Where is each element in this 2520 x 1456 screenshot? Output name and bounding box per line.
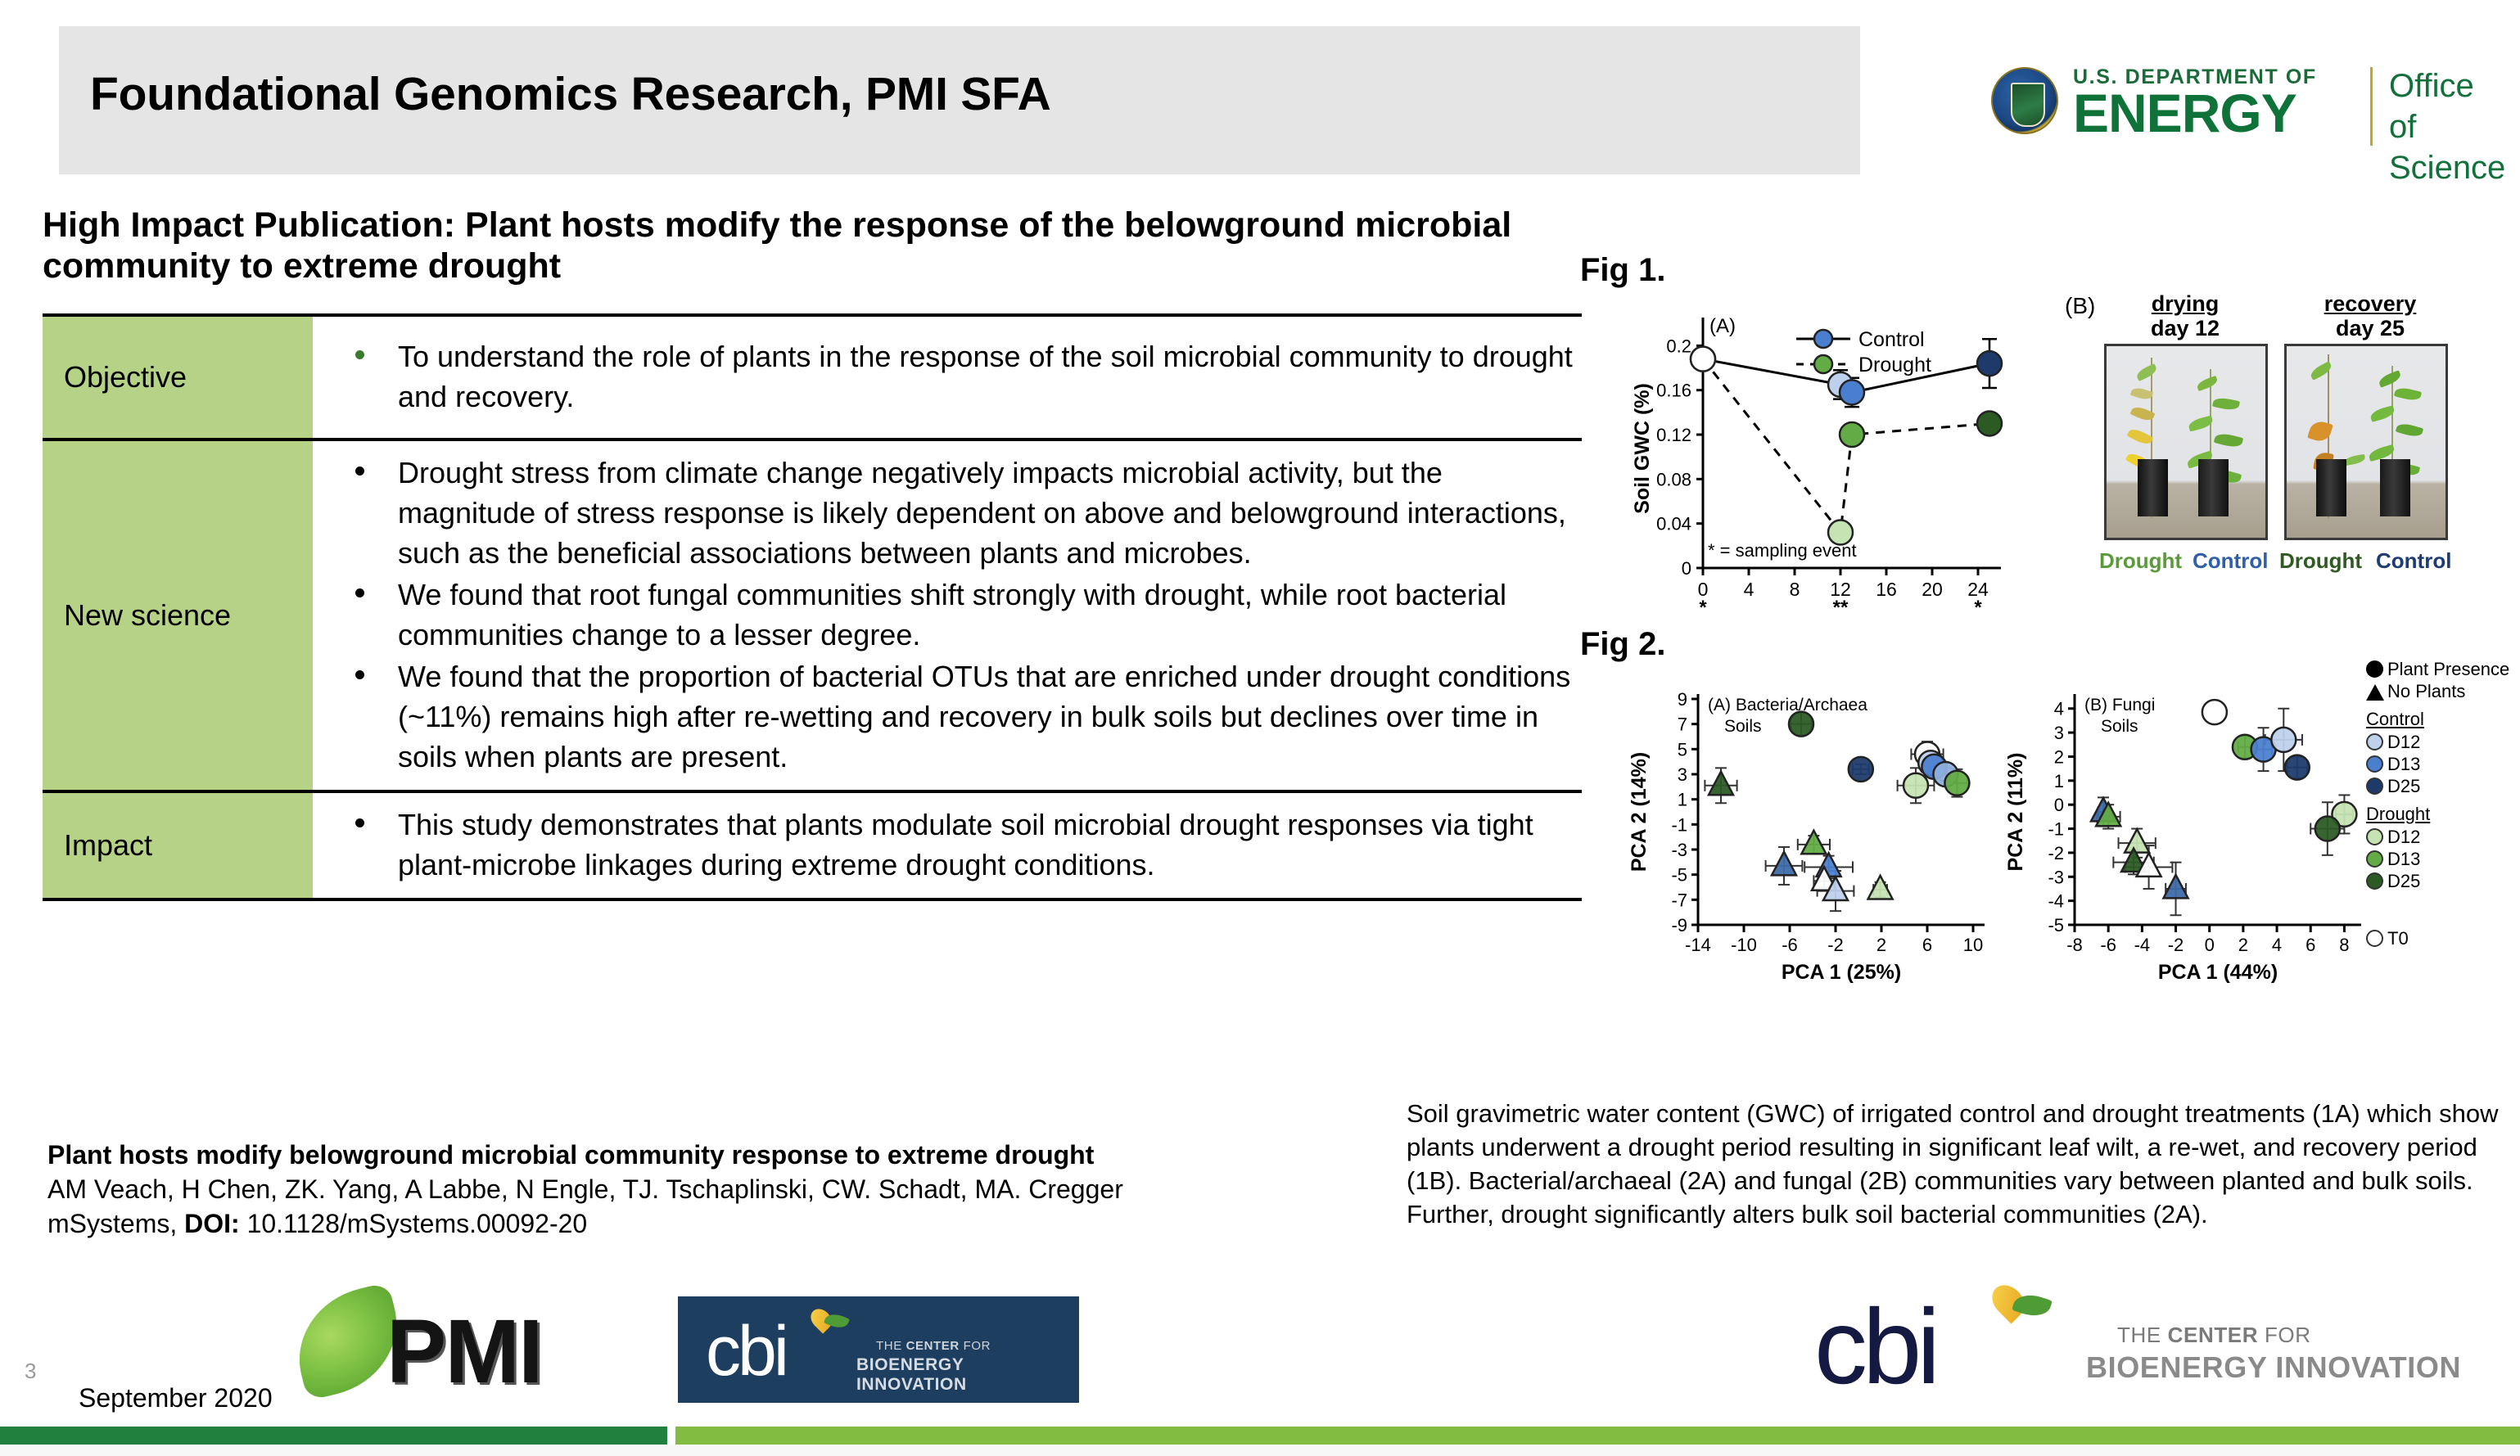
svg-text:PCA 2 (11%): PCA 2 (11%) [2004, 753, 2027, 872]
footer-bar-light [675, 1427, 2520, 1445]
fig1-panelB-photos: (B) drying day 12 recovery day 25 [2065, 293, 2474, 620]
list-item: This study demonstrates that plants modu… [341, 805, 1574, 885]
fig1-panelA-chart: 00.040.080.120.160.204812162024****Soil … [1628, 286, 2021, 630]
svg-text:0: 0 [1682, 558, 1691, 579]
photo-drying-day12 [2104, 344, 2268, 540]
svg-text:PCA 2 (14%): PCA 2 (14%) [1628, 752, 1651, 872]
pmi-wordmark: PMI [386, 1300, 542, 1404]
photo-caption-control-left: Control [2193, 548, 2268, 574]
legend-item-control-d13: D13 [2366, 754, 2518, 775]
svg-text:Drought: Drought [1858, 354, 1931, 376]
svg-text:8: 8 [1790, 579, 1800, 600]
svg-text:Soils: Soils [2101, 717, 2138, 736]
publication-headline: High Impact Publication: Plant hosts mod… [43, 205, 1541, 286]
svg-text:10: 10 [1963, 935, 1983, 955]
cbi-tagline-the: THE [876, 1339, 906, 1353]
svg-text:-7: -7 [1671, 890, 1687, 910]
legend-item-drought-d13: D13 [2366, 849, 2518, 870]
row-body-new-science: Drought stress from climate change negat… [313, 440, 1582, 791]
bullet-text: Drought stress from climate change negat… [398, 456, 1566, 570]
pot [2316, 459, 2346, 516]
slide-number: 3 [25, 1359, 36, 1384]
bullet-text: We found that root fungal communities sh… [398, 578, 1506, 651]
circle-icon [2366, 850, 2383, 868]
pmi-logo: PMI [295, 1291, 639, 1414]
svg-text:Control: Control [1858, 328, 1925, 351]
svg-text:6: 6 [1922, 935, 1932, 955]
svg-text:-5: -5 [1671, 865, 1687, 886]
cbi-wordmark: cbi [706, 1311, 786, 1392]
circle-icon [2366, 930, 2383, 947]
cbi-tagline-center: CENTER [906, 1339, 960, 1353]
svg-text:0: 0 [2205, 935, 2215, 955]
svg-text:-5: -5 [2048, 915, 2064, 935]
svg-text:-1: -1 [2048, 819, 2064, 840]
svg-text:0.12: 0.12 [1656, 425, 1691, 445]
doe-office-line1: Office of [2389, 65, 2505, 147]
footer-bar-dark [0, 1427, 667, 1445]
fig1-svg: 00.040.080.120.160.204812162024****Soil … [1628, 286, 2021, 630]
fig2-legend: Plant Presence No Plants Control D12 D13… [2366, 659, 2518, 1011]
svg-text:4: 4 [2054, 699, 2064, 719]
list-item: We found that root fungal communities sh… [341, 575, 1574, 655]
panelB-left-title: drying [2107, 291, 2263, 317]
circle-icon [2366, 872, 2383, 890]
svg-text:-6: -6 [1782, 935, 1798, 955]
citation-doi-value: 10.1128/mSystems.00092-20 [247, 1209, 588, 1238]
svg-text:6: 6 [2305, 935, 2315, 955]
svg-text:2: 2 [2054, 746, 2064, 767]
cbi-tagline-1: THE CENTER FOR [2117, 1323, 2311, 1348]
svg-text:-3: -3 [1671, 840, 1687, 860]
legend-label: D25 [2387, 871, 2420, 892]
panelB-left-subtitle: day 12 [2107, 316, 2263, 341]
filled-triangle-icon [2366, 684, 2384, 701]
bullet-list-new-science: Drought stress from climate change negat… [341, 453, 1574, 777]
cbi-tagline-for: FOR [960, 1339, 991, 1353]
svg-text:(B) Fungi: (B) Fungi [2084, 696, 2155, 714]
photo-recovery-day25 [2284, 344, 2448, 540]
bullet-list-impact: This study demonstrates that plants modu… [341, 805, 1574, 885]
doe-divider [2370, 67, 2373, 146]
svg-text:0.08: 0.08 [1656, 469, 1691, 489]
pot [2198, 459, 2229, 516]
bullet-dot-icon [355, 467, 364, 476]
footer-background [0, 1445, 2520, 1456]
slide-root: Foundational Genomics Research, PMI SFA … [0, 0, 2520, 1456]
footer-date: September 2020 [79, 1383, 273, 1413]
photo-caption-control-right: Control [2376, 548, 2451, 574]
svg-text:(A): (A) [1709, 315, 1736, 337]
legend-label: D13 [2387, 754, 2420, 775]
svg-text:Soil GWC (%): Soil GWC (%) [1631, 383, 1654, 514]
svg-text:3: 3 [2054, 723, 2064, 743]
svg-text:16: 16 [1876, 579, 1897, 600]
svg-text:-2: -2 [1827, 935, 1844, 955]
citation-doi-line: mSystems, DOI: 10.1128/mSystems.00092-20 [47, 1206, 1398, 1241]
bullet-dot-icon [355, 818, 364, 827]
svg-text:-4: -4 [2048, 891, 2064, 912]
legend-label: D12 [2387, 732, 2420, 753]
legend-label: T0 [2387, 928, 2409, 949]
legend-item-drought-d12: D12 [2366, 827, 2518, 848]
cbi-tagline-the: THE [2117, 1323, 2168, 1347]
figures-region: Fig 1. Fig 2. 00.040.080.120.160.2048121… [1580, 246, 2513, 1080]
svg-text:-10: -10 [1731, 935, 1757, 955]
svg-text:-14: -14 [1685, 935, 1711, 955]
pot [2138, 459, 2168, 516]
svg-text:8: 8 [2339, 935, 2349, 955]
svg-text:1: 1 [1678, 790, 1687, 810]
bullet-text: We found that the proportion of bacteria… [398, 660, 1570, 773]
cbi-tagline-1: THE CENTER FOR [876, 1339, 991, 1353]
circle-icon [2366, 828, 2383, 845]
fig2-label: Fig 2. [1580, 626, 1665, 663]
citation-title: Plant hosts modify belowground microbial… [47, 1138, 1398, 1172]
svg-text:7: 7 [1678, 714, 1687, 735]
photo-caption-drought-right: Drought [2279, 548, 2362, 574]
svg-text:*: * [1974, 597, 1982, 619]
panelB-tag: (B) [2065, 293, 2095, 319]
legend-item-drought-d25: D25 [2366, 871, 2518, 892]
row-category-objective: Objective [43, 315, 313, 440]
bullet-dot-icon [355, 670, 364, 679]
cbi-tagline-2: BIOENERGY INNOVATION [856, 1355, 1079, 1395]
citation-doi-label: DOI: [184, 1209, 240, 1238]
cbi-logo-box: cbi THE CENTER FOR BIOENERGY INNOVATION [678, 1296, 1079, 1403]
list-item: We found that the proportion of bacteria… [341, 656, 1574, 777]
svg-text:4: 4 [2272, 935, 2282, 955]
svg-text:-4: -4 [2134, 935, 2151, 955]
table-row-new-science: New science Drought stress from climate … [43, 440, 1582, 791]
fig2a-svg: -9-7-5-3-113579-14-10-6-22610PCA 2 (14%)… [1628, 665, 2004, 1008]
citation-authors: AM Veach, H Chen, ZK. Yang, A Labbe, N E… [47, 1172, 1398, 1206]
circle-icon [2366, 755, 2383, 773]
svg-text:2: 2 [2238, 935, 2248, 955]
doe-logo: U.S. DEPARTMENT OF ENERGY Office of Scie… [1991, 62, 2491, 152]
bullet-dot-icon [355, 350, 364, 359]
cbi-logo-large: cbi THE CENTER FOR BIOENERGY INNOVATION [1800, 1285, 2504, 1400]
svg-text:-2: -2 [2168, 935, 2184, 955]
bullet-list-objective: To understand the role of plants in the … [341, 336, 1574, 417]
svg-text:5: 5 [1678, 739, 1687, 760]
svg-text:**: ** [1833, 597, 1849, 619]
panelB-right-title: recovery [2284, 291, 2456, 317]
list-item: To understand the role of plants in the … [341, 336, 1574, 417]
bullet-text: To understand the role of plants in the … [398, 340, 1573, 413]
table-row-impact: Impact This study demonstrates that plan… [43, 791, 1582, 899]
circle-icon [2366, 733, 2383, 751]
svg-text:-9: -9 [1671, 915, 1687, 935]
bullet-dot-icon [355, 588, 364, 597]
circle-icon [2366, 778, 2383, 795]
doe-office-label: Office of Science [2389, 65, 2505, 188]
fig2b-svg: -5-4-3-2-101234-8-6-4-202468PCA 2 (11%)P… [2004, 665, 2381, 1008]
svg-text:20: 20 [1922, 579, 1943, 600]
cbi-tagline-center: CENTER [2168, 1323, 2259, 1347]
row-category-new-science: New science [43, 440, 313, 791]
svg-text:-3: -3 [2048, 867, 2064, 887]
svg-text:(A) Bacteria/Archaea: (A) Bacteria/Archaea [1708, 696, 1867, 714]
legend-group-control: Control [2366, 709, 2518, 730]
svg-text:0.04: 0.04 [1656, 514, 1691, 534]
legend-label: Plant Presence [2387, 659, 2509, 680]
svg-text:0.2: 0.2 [1666, 336, 1691, 356]
page-title: Foundational Genomics Research, PMI SFA [90, 67, 1051, 121]
row-body-objective: To understand the role of plants in the … [313, 315, 1582, 440]
svg-text:3: 3 [1678, 764, 1687, 785]
legend-label: D25 [2387, 776, 2420, 797]
svg-text:Soils: Soils [1724, 717, 1762, 736]
row-body-impact: This study demonstrates that plants modu… [313, 791, 1582, 899]
legend-group-drought: Drought [2366, 804, 2518, 825]
svg-text:0.16: 0.16 [1656, 381, 1691, 401]
cbi-tagline-2: BIOENERGY INNOVATION [2086, 1350, 2461, 1385]
table-row-objective: Objective To understand the role of plan… [43, 315, 1582, 440]
list-item: Drought stress from climate change negat… [341, 453, 1574, 573]
legend-item-control-d25: D25 [2366, 776, 2518, 797]
cbi-tagline-for: FOR [2258, 1323, 2311, 1347]
citation-block: Plant hosts modify belowground microbial… [47, 1138, 1398, 1241]
photo-caption-drought-left: Drought [2099, 548, 2182, 574]
svg-text:0: 0 [2054, 795, 2064, 815]
svg-text:-8: -8 [2066, 935, 2083, 955]
panelB-right-subtitle: day 25 [2284, 316, 2456, 341]
fig2-panelA-chart: -9-7-5-3-113579-14-10-6-22610PCA 2 (14%)… [1628, 665, 2004, 1008]
svg-text:2: 2 [1876, 935, 1886, 955]
legend-item-t0: T0 [2366, 928, 2518, 949]
fig2-panelB-chart: -5-4-3-2-101234-8-6-4-202468PCA 2 (11%)P… [2004, 665, 2381, 1008]
cbi-wordmark: cbi [1814, 1285, 1935, 1408]
pot [2380, 459, 2410, 516]
svg-text:4: 4 [1744, 579, 1755, 600]
svg-text:9: 9 [1678, 689, 1687, 710]
svg-text:*: * [1699, 597, 1707, 619]
legend-label: D12 [2387, 827, 2420, 848]
svg-text:-1: -1 [1671, 814, 1687, 835]
svg-text:PCA 1 (44%): PCA 1 (44%) [2158, 961, 2278, 984]
doe-energy-label: ENERGY [2073, 84, 2296, 142]
row-category-impact: Impact [43, 791, 313, 899]
legend-item-control-d12: D12 [2366, 732, 2518, 753]
filled-circle-icon [2366, 660, 2383, 678]
svg-text:-6: -6 [2100, 935, 2116, 955]
svg-text:1: 1 [2054, 771, 2064, 791]
figure-caption: Soil gravimetric water content (GWC) of … [1407, 1097, 2512, 1231]
citation-journal: mSystems, [47, 1209, 177, 1238]
legend-label: D13 [2387, 849, 2420, 870]
fig1-label: Fig 1. [1580, 252, 1665, 289]
svg-text:PCA 1 (25%): PCA 1 (25%) [1782, 961, 1901, 984]
svg-text:-2: -2 [2048, 843, 2064, 863]
legend-label: No Plants [2387, 681, 2465, 702]
doe-office-line2: Science [2389, 147, 2505, 188]
legend-item-no-plants: No Plants [2366, 681, 2518, 702]
legend-item-plant-presence: Plant Presence [2366, 659, 2518, 680]
bullet-text: This study demonstrates that plants modu… [398, 808, 1533, 881]
doe-seal-icon [1991, 67, 2058, 134]
summary-table: Objective To understand the role of plan… [43, 313, 1582, 901]
